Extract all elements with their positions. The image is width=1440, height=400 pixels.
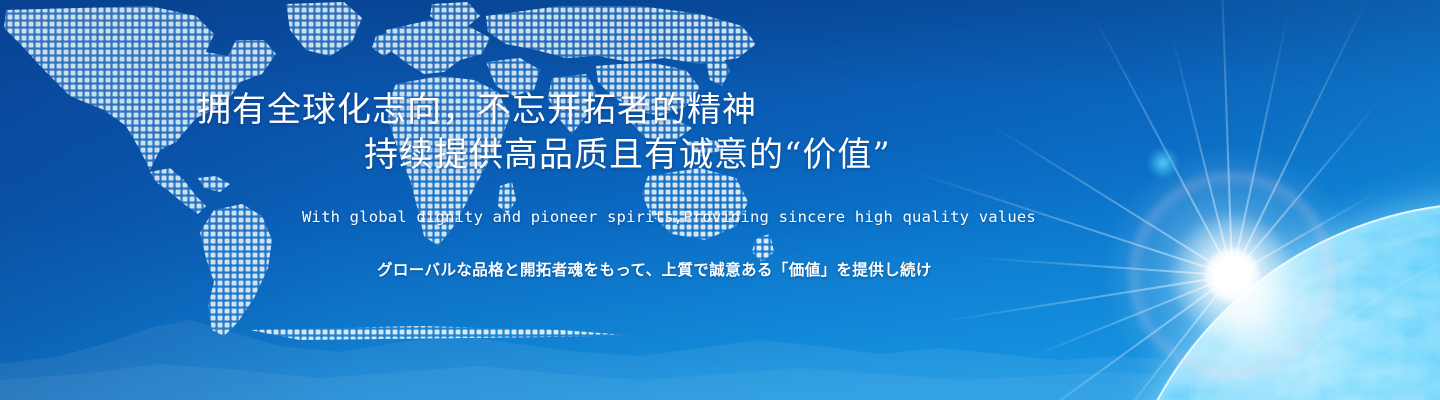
mountain-horizon-graphic — [0, 290, 1200, 400]
subheadline-english: With global dignity and pioneer spirits,… — [302, 207, 1036, 227]
subheadline-japanese: グローバルな品格と開拓者魂をもって、上質で誠意ある「価値」を提供し続け — [377, 260, 932, 281]
hero-banner: 拥有全球化志向，不忘开拓者的精神 持续提供高品质且有诚意的“价值” With g… — [0, 0, 1440, 400]
headline-chinese-line-1: 拥有全球化志向，不忘开拓者的精神 — [197, 93, 757, 127]
lens-flare-dot — [1148, 148, 1178, 178]
headline-chinese-line-2: 持续提供高品质且有诚意的“价值” — [364, 138, 891, 172]
